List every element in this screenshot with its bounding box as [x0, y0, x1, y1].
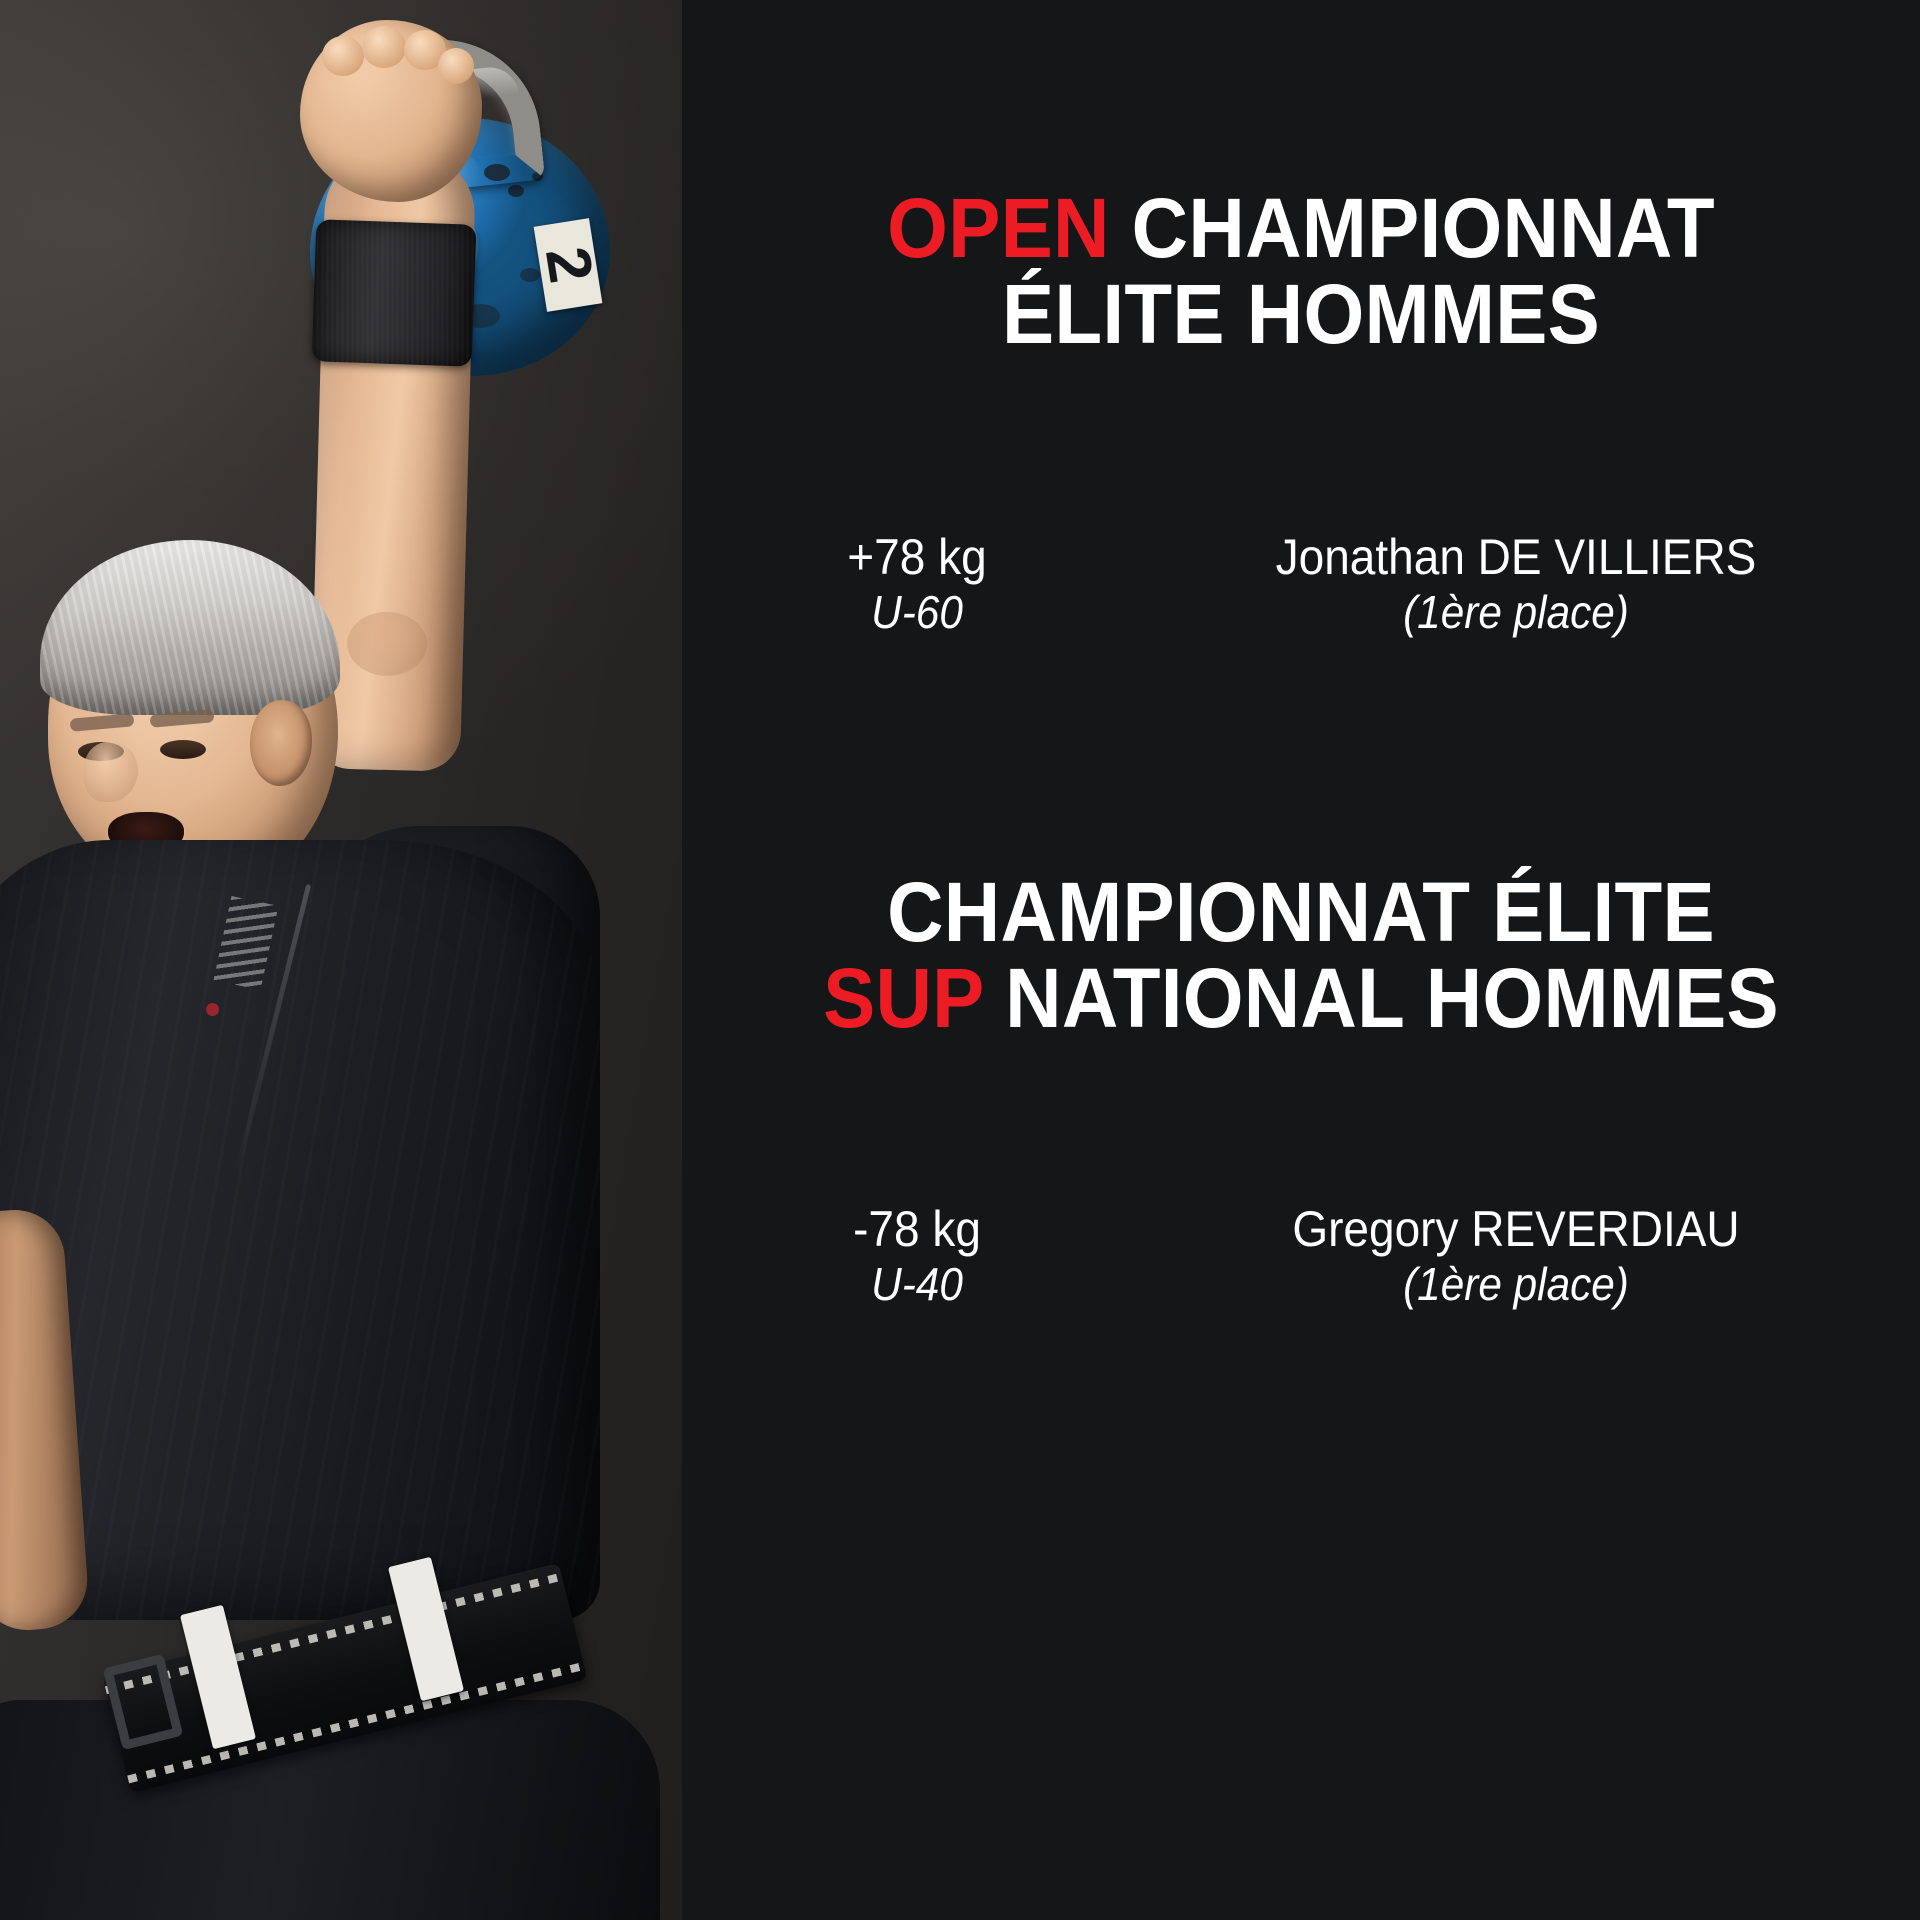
athlete-fist [300, 20, 482, 202]
section-2-athlete-placement: (1ère place) [1181, 1258, 1851, 1311]
section-1-title-line-1: OPEN CHAMPIONNAT [725, 186, 1876, 272]
section-1-title-line-1-rest: CHAMPIONNAT [1110, 181, 1715, 275]
elbow-highlight [346, 611, 428, 677]
section-1-category: +78 kg U-60 [682, 528, 1152, 639]
section-1-weight-class: +78 kg [701, 528, 1133, 586]
poster-root: 2 [0, 0, 1920, 1920]
kettlebell-number-tag: 2 [534, 218, 603, 312]
section-2-age-class: U-40 [701, 1258, 1133, 1311]
section-1-accent-word: OPEN [887, 181, 1110, 275]
athlete-photo: 2 [0, 0, 682, 1920]
results-panel: OPEN CHAMPIONNAT ÉLITE HOMMES +78 kg U-6… [682, 0, 1920, 1920]
section-1-athlete: Jonathan DE VILLIERS (1ère place) [1152, 528, 1920, 639]
section-2-title: CHAMPIONNAT ÉLITE SUP NATIONAL HOMMES [725, 870, 1876, 1041]
section-2-result-row: -78 kg U-40 Gregory REVERDIAU (1ère plac… [682, 1200, 1920, 1311]
section-1-result-row: +78 kg U-60 Jonathan DE VILLIERS (1ère p… [682, 528, 1920, 639]
section-2-weight-class: -78 kg [701, 1200, 1133, 1258]
section-2-title-line-2: SUP NATIONAL HOMMES [725, 956, 1876, 1042]
section-1-athlete-name: Jonathan DE VILLIERS [1181, 528, 1851, 586]
section-2-athlete: Gregory REVERDIAU (1ère place) [1152, 1200, 1920, 1311]
section-2-category: -78 kg U-40 [682, 1200, 1152, 1311]
section-1-age-class: U-60 [701, 586, 1133, 639]
section-1-title: OPEN CHAMPIONNAT ÉLITE HOMMES [725, 186, 1876, 357]
section-2-title-line-2-rest: NATIONAL HOMMES [983, 951, 1779, 1045]
section-2-title-line-1: CHAMPIONNAT ÉLITE [725, 870, 1876, 956]
athlete-eye-2 [160, 740, 206, 759]
kettlebell-number: 2 [535, 243, 602, 287]
section-1-title-line-2: ÉLITE HOMMES [725, 272, 1876, 358]
shirt-logo-dot [206, 1003, 219, 1016]
section-1-athlete-placement: (1ère place) [1181, 586, 1851, 639]
athlete-shirt [0, 840, 600, 1620]
section-2-accent-word: SUP [823, 951, 983, 1045]
section-2-athlete-name: Gregory REVERDIAU [1181, 1200, 1851, 1258]
wristband [312, 219, 477, 366]
